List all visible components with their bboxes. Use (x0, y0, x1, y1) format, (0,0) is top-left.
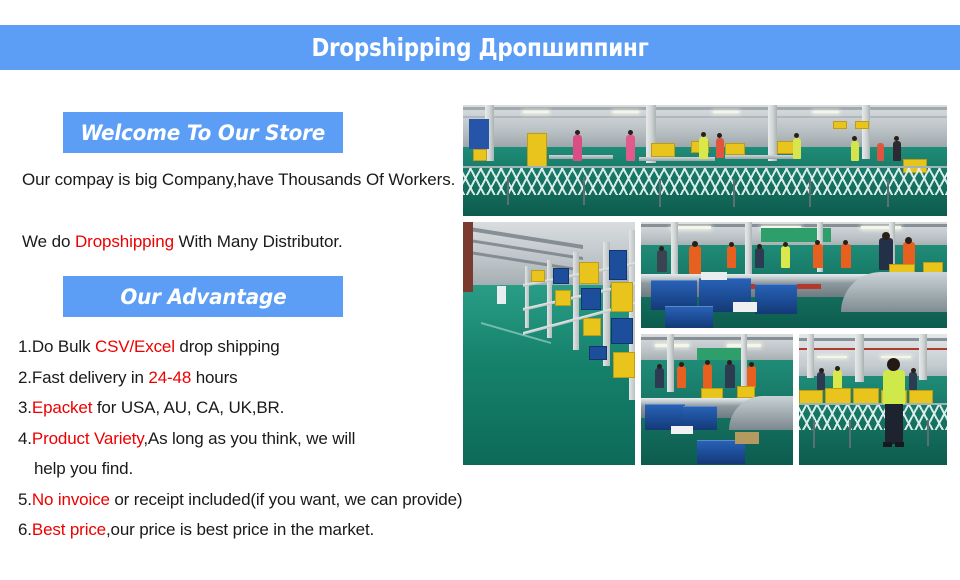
welcome-heading-box: Welcome To Our Store (63, 112, 343, 153)
item-number: 3. (18, 398, 32, 417)
item-number: 5. (18, 490, 32, 509)
packing-line-photo (641, 334, 793, 465)
storage-aisle-photo (463, 222, 635, 465)
list-item: 6.Best price,our price is best price in … (18, 515, 578, 546)
item-number: 6. (18, 520, 32, 539)
item-post: ,our price is best price in the market. (106, 520, 374, 539)
item-pre: Do Bulk (32, 337, 95, 356)
welcome-paragraph-2: We do Dropshipping With Many Distributor… (22, 227, 462, 257)
hi-vis-worker-photo (799, 334, 947, 465)
warehouse-panorama-photo (463, 105, 947, 216)
item-post: hours (191, 368, 237, 387)
item-pre: Fast delivery in (32, 368, 149, 387)
advantage-heading-text: Our Advantage (120, 285, 286, 309)
item-highlight: Epacket (32, 398, 92, 417)
list-item: 5.No invoice or receipt included(if you … (18, 485, 578, 516)
photo-gallery (463, 105, 947, 465)
banner-title: Dropshipping Дропшиппинг (311, 33, 648, 62)
item-post: drop shipping (175, 337, 280, 356)
paragraph-2-prefix: We do (22, 232, 75, 251)
welcome-paragraph-1: Our compay is big Company,have Thousands… (22, 165, 460, 195)
item-highlight: No invoice (32, 490, 110, 509)
item-highlight: 24-48 (148, 368, 191, 387)
sorting-conveyor-photo (641, 222, 947, 328)
item-post: ,As long as you think, we will (143, 429, 355, 448)
item-post: for USA, AU, CA, UK,BR. (92, 398, 284, 417)
welcome-heading-text: Welcome To Our Store (81, 121, 326, 145)
item-highlight: Best price (32, 520, 106, 539)
paragraph-2-suffix: With Many Distributor. (174, 232, 343, 251)
item-highlight: Product Variety (32, 429, 143, 448)
item-number: 4. (18, 429, 32, 448)
left-content-column: Welcome To Our Store Our compay is big C… (0, 70, 462, 580)
item-post: or receipt included(if you want, we can … (110, 490, 463, 509)
paragraph-2-highlight: Dropshipping (75, 232, 174, 251)
item-number: 1. (18, 337, 32, 356)
item-highlight: CSV/Excel (95, 337, 175, 356)
page-banner: Dropshipping Дропшиппинг (0, 25, 960, 70)
advantage-heading-box: Our Advantage (63, 276, 343, 317)
item-number: 2. (18, 368, 32, 387)
